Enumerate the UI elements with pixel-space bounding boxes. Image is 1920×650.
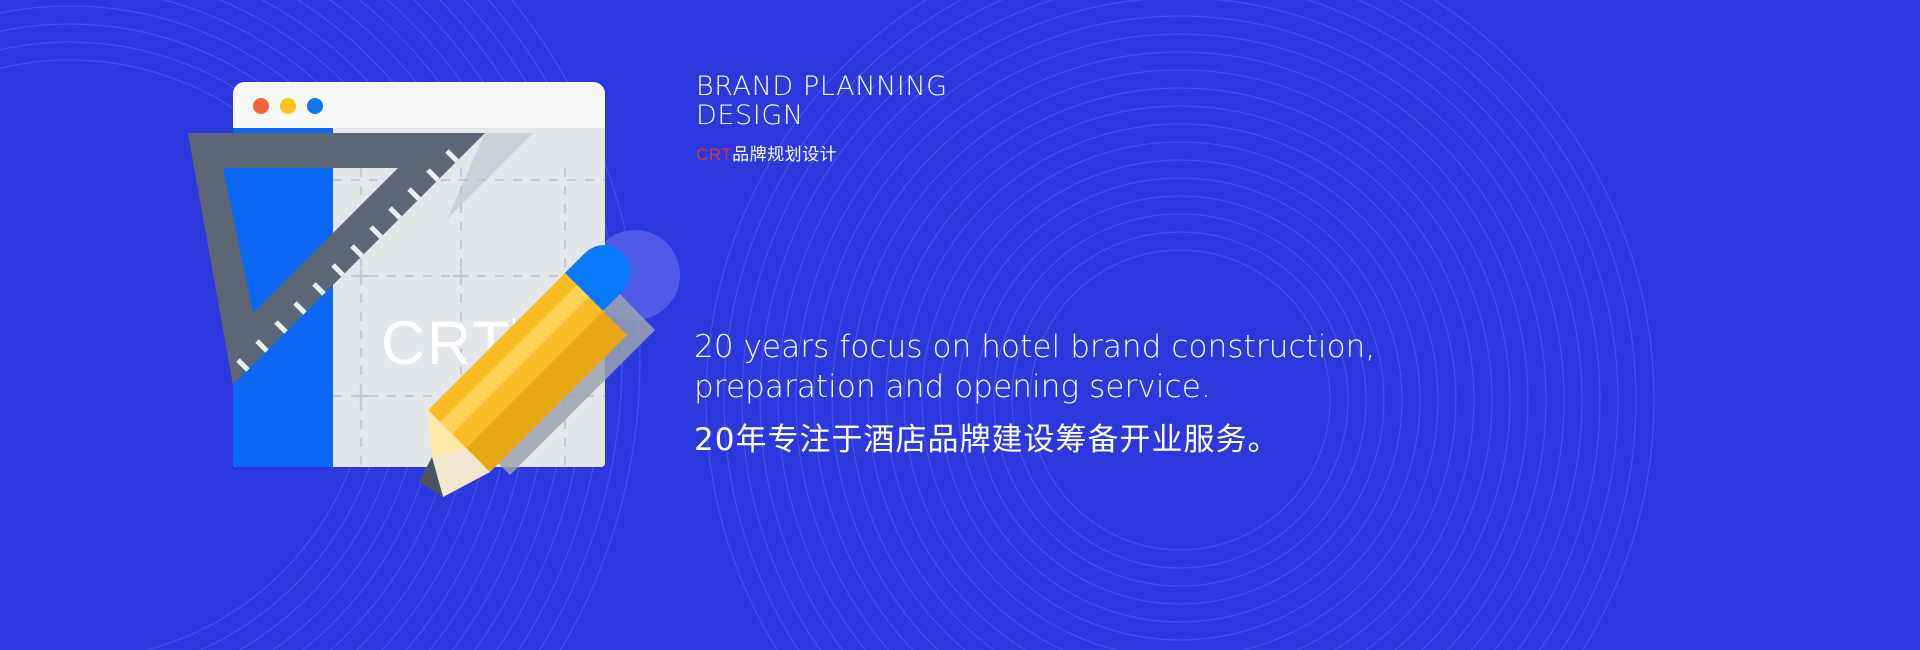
tagline-chinese: 20年专注于酒店品牌建设筹备开业服务。 xyxy=(694,421,1814,460)
heading-subtitle: CRT品牌规划设计 xyxy=(696,140,948,165)
pencil xyxy=(185,55,705,515)
heading-brand-label: CRT xyxy=(696,145,732,164)
heading-subtitle-text: 品牌规划设计 xyxy=(732,145,837,164)
page-title: BRAND PLANNING DESIGN xyxy=(696,72,948,130)
tagline-english-line-1: 20 years focus on hotel brand constructi… xyxy=(694,328,1814,368)
brand-design-illustration: CRT' xyxy=(185,55,705,515)
tagline-block: 20 years focus on hotel brand constructi… xyxy=(694,328,1814,460)
tagline-english-line-2: preparation and opening service. xyxy=(694,368,1814,408)
heading-block: BRAND PLANNING DESIGN CRT品牌规划设计 xyxy=(696,72,948,165)
brand-banner: CRT' xyxy=(0,0,1920,650)
